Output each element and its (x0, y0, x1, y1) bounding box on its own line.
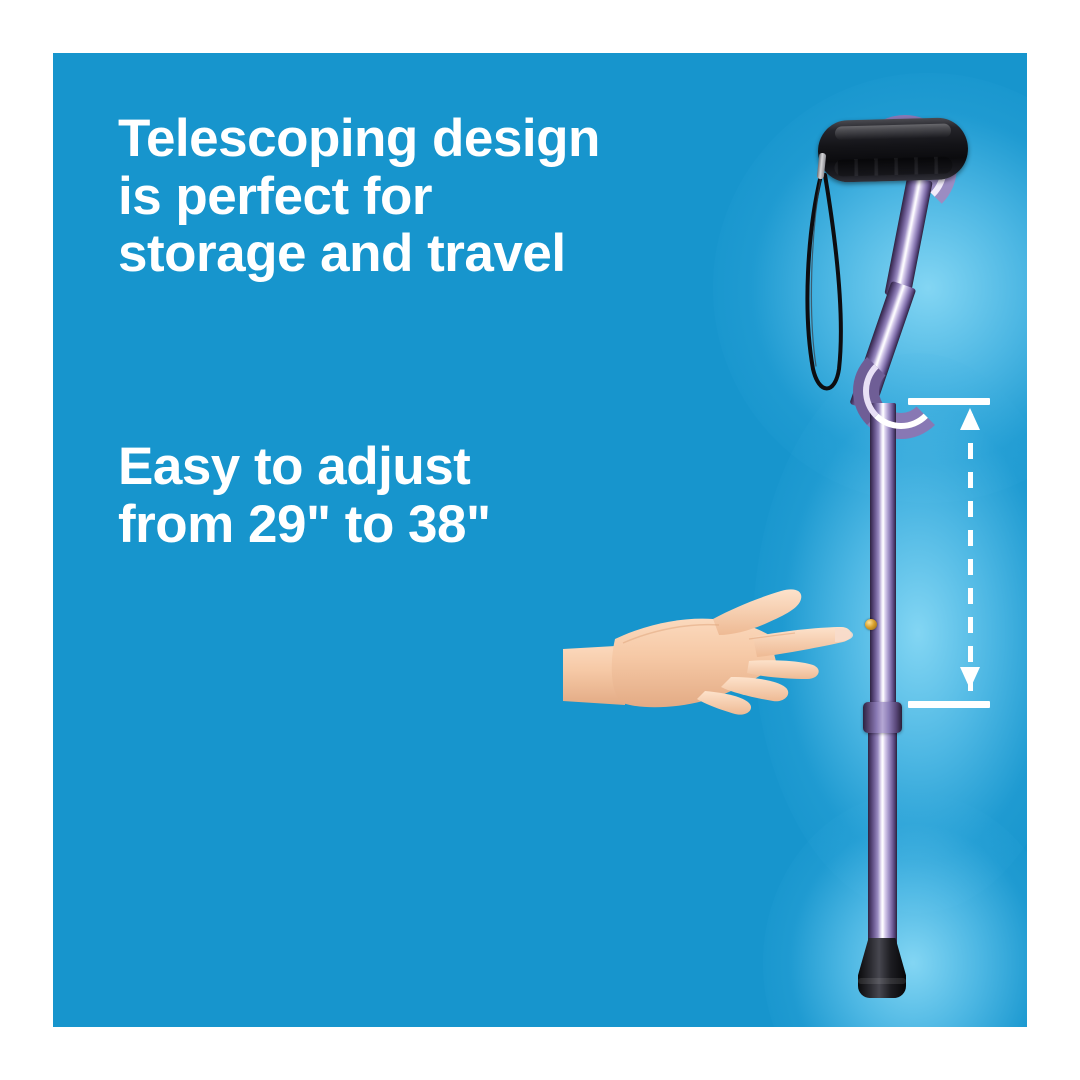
shaft-segment-main (870, 403, 896, 715)
arrow-up-icon (960, 408, 980, 430)
product-panel: Telescoping design is perfect for storag… (53, 53, 1027, 1027)
arrow-down-icon (960, 667, 980, 689)
measure-cap-bottom (908, 701, 990, 708)
height-range-indicator (908, 398, 998, 718)
push-button-adjuster-icon[interactable] (865, 619, 877, 630)
image-canvas: Telescoping design is perfect for storag… (0, 0, 1080, 1080)
measure-cap-top (908, 398, 990, 405)
wrist-strap-icon (801, 173, 843, 398)
cane-rubber-tip (858, 938, 906, 998)
pointing-hand-icon (563, 573, 863, 733)
telescoping-collar (863, 702, 902, 733)
cane-tip-ring (858, 978, 906, 984)
measure-dashed-line (968, 414, 973, 692)
telescoping-cane (53, 53, 1027, 1027)
